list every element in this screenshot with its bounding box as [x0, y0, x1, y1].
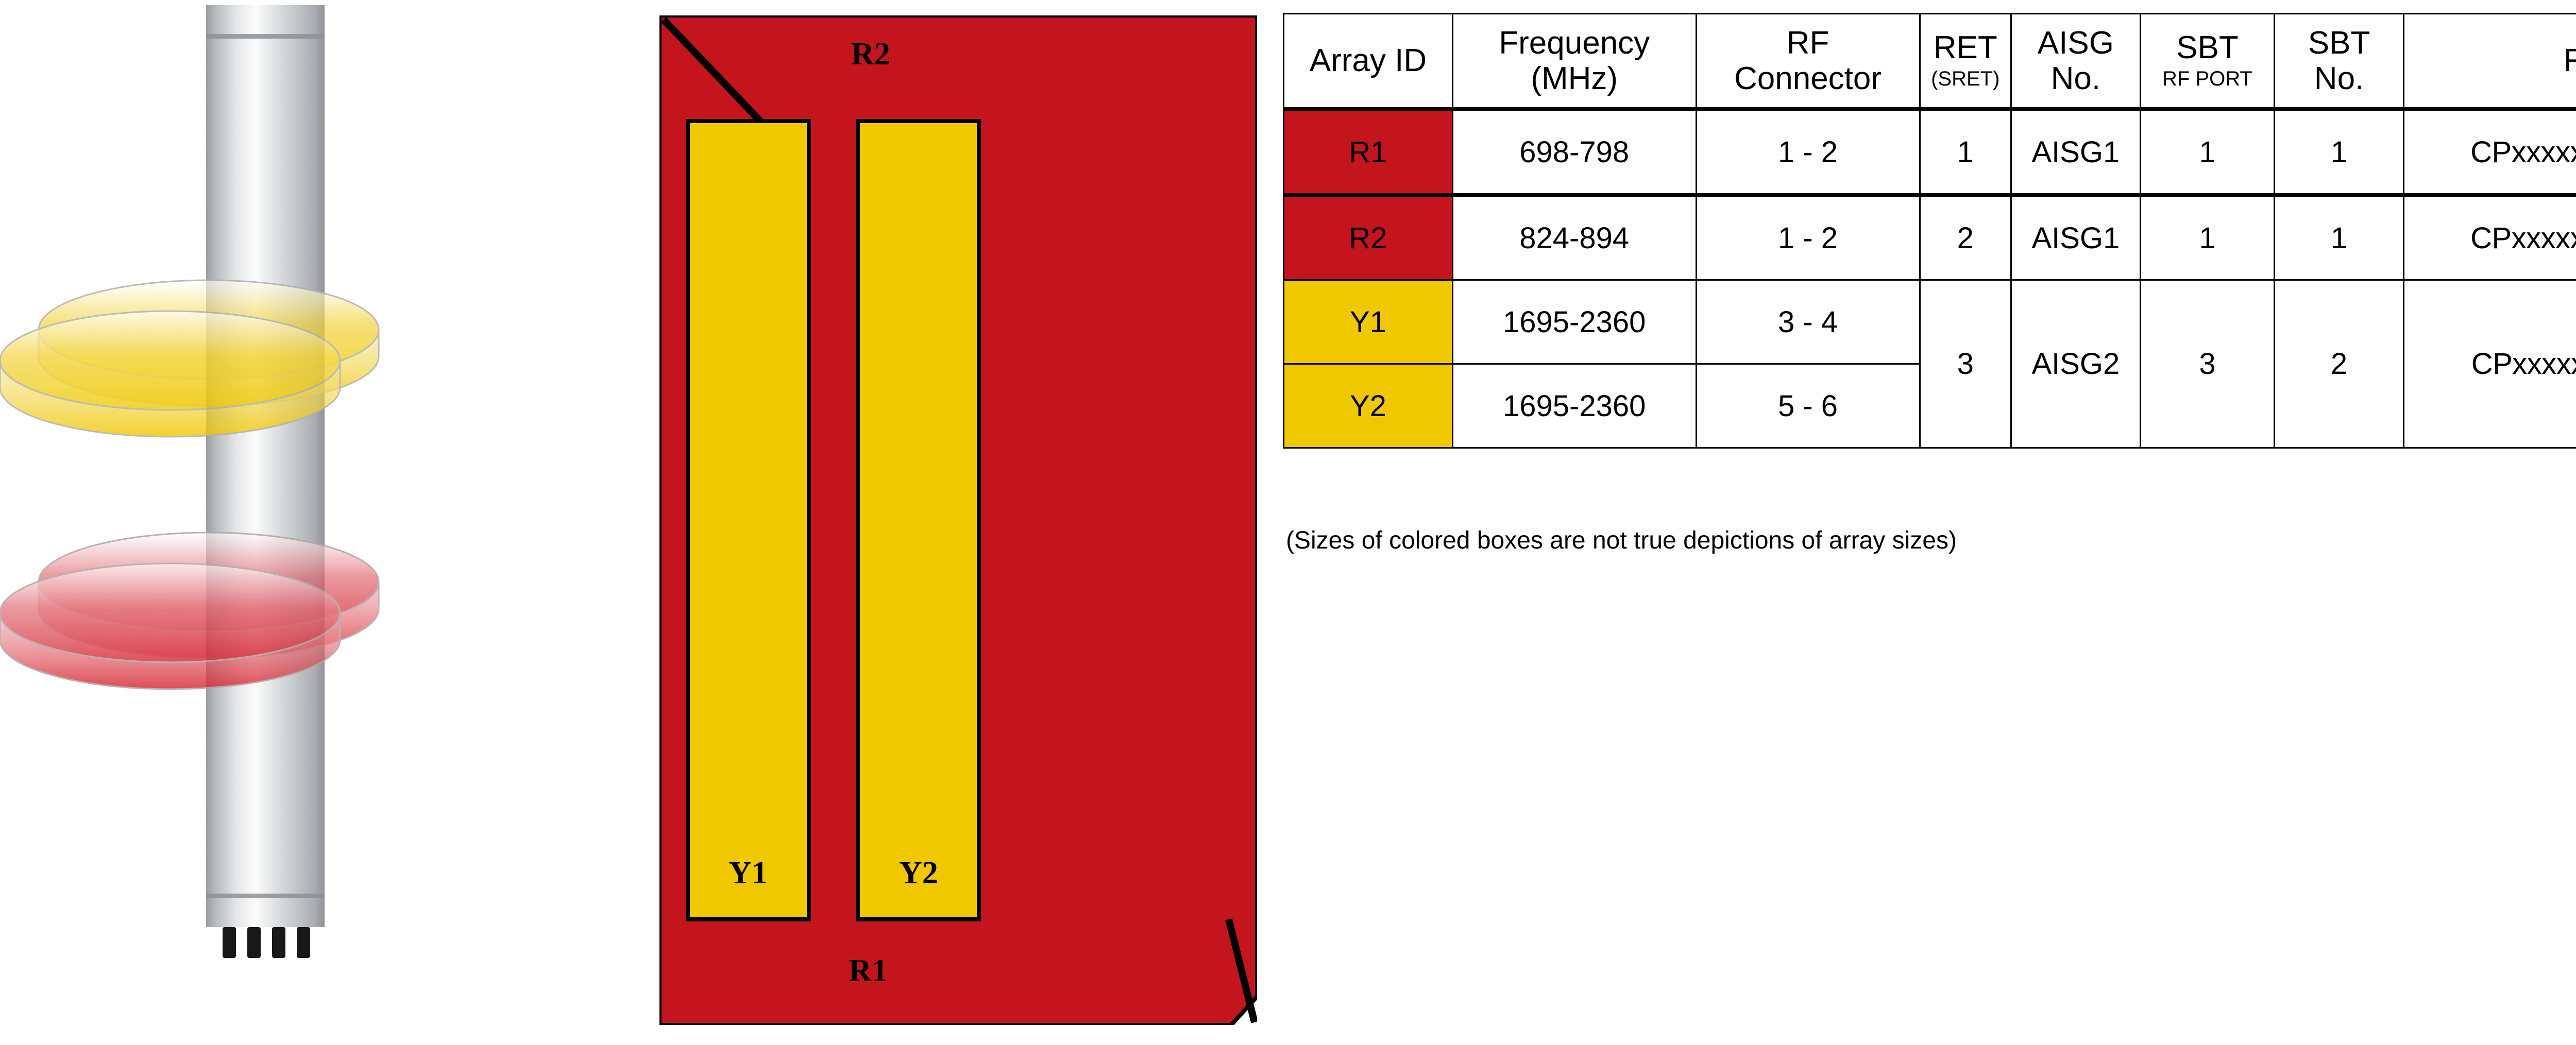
array-box-y1 [688, 121, 809, 919]
cell-rf-connector-r1: 1 - 2 [1696, 109, 1920, 195]
col-header-ret: RET (SRET) [1920, 14, 2011, 109]
cell-ret-r2: 2 [1920, 195, 2011, 280]
cell-ret-uid-y: CPxxxxxxxxxxxxxxxxY1 [2403, 280, 2576, 448]
col-header-rf-connector-line1: RF [1787, 25, 1829, 61]
col-header-frequency-line1: Frequency [1499, 25, 1650, 61]
cell-sbt-rf-port-r1: 1 [2140, 109, 2274, 195]
cell-aisg-r2: AISG1 [2011, 195, 2140, 280]
panel-label-r2: R2 [851, 37, 890, 72]
cell-array-id-y2: Y2 [1284, 364, 1453, 448]
col-header-array-id: Array ID [1284, 14, 1453, 109]
mast-tube [206, 5, 325, 927]
antenna-mast-illustration [0, 0, 629, 1042]
cell-rf-connector-r2: 1 - 2 [1696, 195, 1920, 280]
panel-label-r1: R1 [849, 953, 888, 988]
cell-ret-uid-r2: CPxxxxxxxxxxxxxxxxR2 [2403, 195, 2576, 280]
panel-label-y2: Y2 [899, 855, 938, 890]
col-header-ret-uid: RET UID [2403, 14, 2576, 109]
col-header-sbt-no: SBT No. [2275, 14, 2404, 109]
cell-frequency-y1: 1695-2360 [1452, 280, 1696, 364]
col-header-sbt-no-line2: No. [2275, 61, 2403, 96]
cell-sbt-no-r1: 1 [2275, 109, 2404, 195]
table-caption: (Sizes of colored boxes are not true dep… [1286, 526, 1957, 555]
cell-ret-y: 3 [1920, 280, 2011, 448]
col-header-ret-uid-line1: RET UID [2564, 43, 2576, 78]
cell-rf-connector-y1: 3 - 4 [1696, 280, 1920, 364]
cell-ret-uid-r1: CPxxxxxxxxxxxxxxxxR1 [2403, 109, 2576, 195]
cell-frequency-r2: 824-894 [1452, 195, 1696, 280]
col-header-ret-line1: RET [1934, 30, 1997, 65]
table-row: R2 824-894 1 - 2 2 AISG1 1 1 CPxxxxxxxxx… [1284, 195, 2576, 280]
cell-rf-connector-y2: 5 - 6 [1696, 364, 1920, 448]
cell-array-id-y1: Y1 [1284, 280, 1453, 364]
panel-label-y1: Y1 [728, 855, 768, 890]
cell-ret-r1: 1 [1920, 109, 2011, 195]
col-header-aisg-no-line2: No. [2012, 61, 2140, 96]
cell-sbt-rf-port-y: 3 [2140, 280, 2274, 448]
cell-array-id-r1: R1 [1284, 109, 1453, 195]
cell-frequency-y2: 1695-2360 [1452, 364, 1696, 448]
col-header-aisg-no: AISG No. [2011, 14, 2140, 109]
col-header-rf-connector-line2: Connector [1697, 61, 1919, 96]
col-header-frequency: Frequency (MHz) [1452, 14, 1696, 109]
col-header-rf-connector: RF Connector [1696, 14, 1920, 109]
col-header-sbt-no-line1: SBT [2308, 25, 2370, 61]
col-header-sbt-rf-port-line2: RF PORT [2141, 66, 2274, 92]
cell-array-id-r2: R2 [1284, 195, 1453, 280]
antenna-spec-table: Array ID Frequency (MHz) RF Connector RE… [1283, 13, 2576, 449]
cell-sbt-no-r2: 1 [2275, 195, 2404, 280]
table-row: Y1 1695-2360 3 - 4 3 AISG2 3 2 CPxxxxxxx… [1284, 280, 2576, 364]
cell-sbt-no-y: 2 [2275, 280, 2404, 448]
table-header-row: Array ID Frequency (MHz) RF Connector RE… [1284, 14, 2576, 109]
col-header-sbt-rf-port-line1: SBT [2176, 30, 2239, 65]
cell-frequency-r1: 698-798 [1452, 109, 1696, 195]
array-layout-panel: R2 R1 Y1 Y2 [659, 15, 1257, 1025]
col-header-frequency-line2: (MHz) [1453, 61, 1696, 96]
connector-pins [223, 927, 310, 958]
table-row: R1 698-798 1 - 2 1 AISG1 1 1 CPxxxxxxxxx… [1284, 109, 2576, 195]
col-header-ret-line2: (SRET) [1921, 66, 2010, 92]
col-header-array-id-line1: Array ID [1310, 43, 1427, 78]
col-header-sbt-rf-port: SBT RF PORT [2140, 14, 2274, 109]
col-header-aisg-no-line1: AISG [2038, 25, 2114, 61]
cell-aisg-y: AISG2 [2011, 280, 2140, 448]
cell-aisg-r1: AISG1 [2011, 109, 2140, 195]
array-box-y2 [858, 121, 979, 919]
antenna-spec-table-region: Array ID Frequency (MHz) RF Connector RE… [1283, 13, 2576, 449]
cell-sbt-rf-port-r2: 1 [2140, 195, 2274, 280]
